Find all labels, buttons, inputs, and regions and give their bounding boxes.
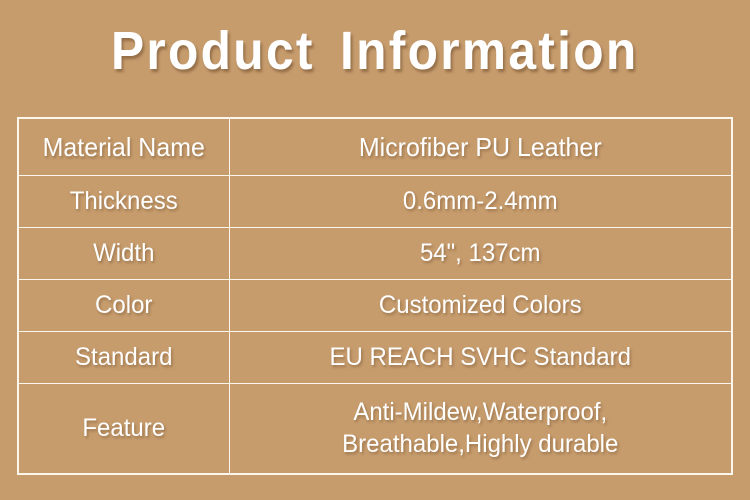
table-row: Color Customized Colors (18, 279, 732, 331)
table-cell-value-line: Breathable,Highly durable (243, 428, 717, 460)
table-cell-value: Anti-Mildew,Waterproof, Breathable,Highl… (239, 383, 722, 474)
table-cell-label: Color (22, 279, 225, 331)
table-cell-label: Width (22, 227, 225, 279)
table-row: Width 54", 137cm (18, 227, 732, 279)
page-title-container: Product Information (0, 20, 750, 82)
table-cell-label: Material Name (22, 118, 225, 175)
table-cell-value: 54", 137cm (239, 227, 722, 279)
product-information-table: Material Name Microfiber PU Leather Thic… (17, 117, 733, 475)
product-information-card: Product Information Material Name Microf… (0, 0, 750, 500)
page-title: Product Information (111, 20, 639, 82)
table-row: Standard EU REACH SVHC Standard (18, 331, 732, 383)
table-row: Material Name Microfiber PU Leather (18, 118, 732, 175)
table-cell-label: Standard (22, 331, 225, 383)
table-row: Thickness 0.6mm-2.4mm (18, 175, 732, 227)
table-cell-value-line: Anti-Mildew,Waterproof, (243, 396, 717, 428)
table-cell-value: 0.6mm-2.4mm (239, 175, 722, 227)
table-cell-label: Feature (22, 383, 225, 474)
table-row: Feature Anti-Mildew,Waterproof, Breathab… (18, 383, 732, 474)
table-cell-value: Microfiber PU Leather (239, 118, 722, 175)
table-cell-value: Customized Colors (239, 279, 722, 331)
table-cell-label: Thickness (22, 175, 225, 227)
table-cell-value: EU REACH SVHC Standard (239, 331, 722, 383)
